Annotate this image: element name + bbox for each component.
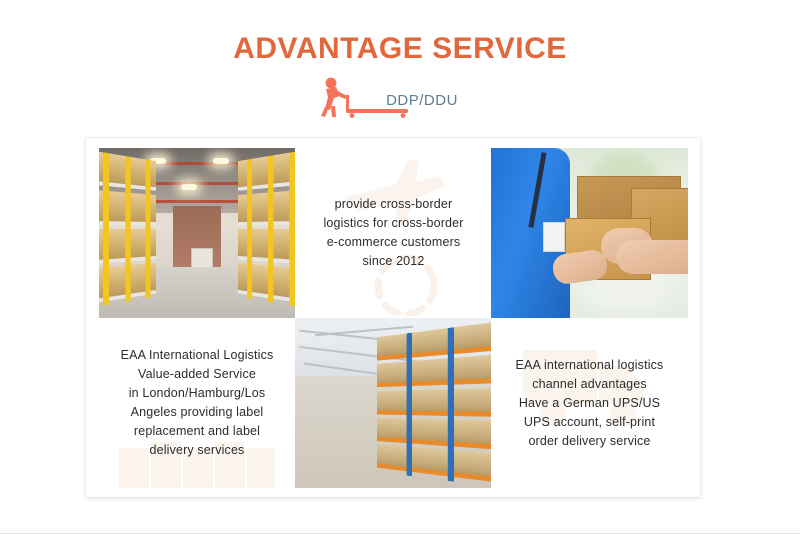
ddp-ddu-label: DDP/DDU bbox=[386, 92, 458, 109]
pallet-racking bbox=[377, 321, 491, 488]
delivery-handover-photo bbox=[491, 148, 688, 318]
ceiling-lamp bbox=[213, 158, 229, 164]
ceiling-beam bbox=[150, 200, 244, 203]
customer-arm bbox=[616, 240, 688, 274]
delivery-handover-image bbox=[491, 148, 688, 318]
page-header: ADVANTAGE SERVICE DDP bbox=[0, 0, 800, 132]
id-badge bbox=[543, 222, 565, 252]
warehouse-aisle-photo bbox=[99, 148, 295, 318]
value-added-service-tile: EAA International Logistics Value-added … bbox=[99, 318, 295, 488]
cross-border-logistics-tile: provide cross-border logistics for cross… bbox=[296, 148, 491, 318]
channel-advantages-cell: EAA international logistics channel adva… bbox=[491, 318, 688, 488]
value-added-service-cell: EAA International Logistics Value-added … bbox=[99, 318, 295, 488]
cross-border-logistics-text: provide cross-border logistics for cross… bbox=[323, 195, 463, 271]
warehouse-racking-photo bbox=[295, 318, 491, 488]
left-rack bbox=[99, 151, 156, 307]
warehouse-aisle-image bbox=[99, 148, 295, 318]
right-rack bbox=[238, 151, 295, 307]
value-added-service-text: EAA International Logistics Value-added … bbox=[121, 346, 274, 460]
channel-advantages-text: EAA international logistics channel adva… bbox=[516, 356, 664, 451]
ddp-ddu-logo: DDP/DDU bbox=[312, 76, 488, 118]
bottom-divider bbox=[0, 533, 800, 534]
advantage-grid: provide cross-border logistics for cross… bbox=[99, 148, 688, 488]
page-title: ADVANTAGE SERVICE bbox=[0, 32, 800, 66]
advantage-service-card: provide cross-border logistics for cross… bbox=[86, 138, 700, 497]
channel-advantages-tile: EAA international logistics channel adva… bbox=[491, 318, 688, 488]
cross-border-logistics-cell: provide cross-border logistics for cross… bbox=[295, 148, 491, 318]
warehouse-racking-image bbox=[295, 318, 491, 488]
advantage-service-page: ADVANTAGE SERVICE DDP bbox=[0, 0, 800, 540]
ceiling-lamp bbox=[181, 184, 197, 190]
